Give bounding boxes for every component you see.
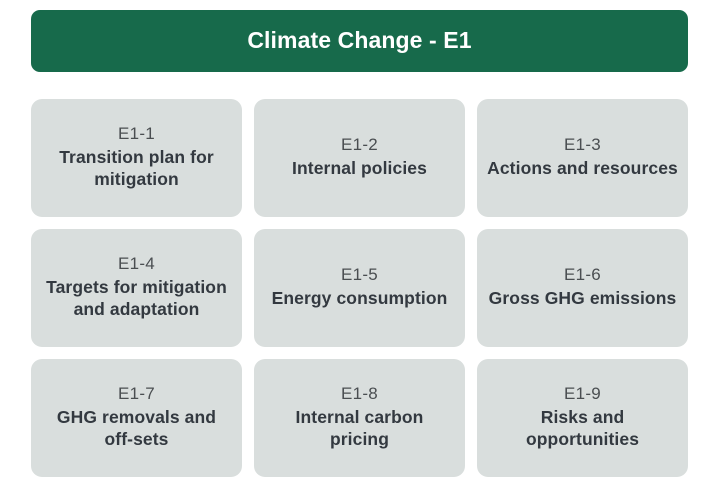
card-e1-6[interactable]: E1-6 Gross GHG emissions bbox=[477, 229, 688, 347]
page-title: Climate Change - E1 bbox=[247, 28, 471, 53]
card-code: E1-8 bbox=[341, 383, 378, 405]
card-code: E1-6 bbox=[564, 264, 601, 286]
card-label: Transition plan for mitigation bbox=[41, 146, 232, 191]
card-label: Internal carbon pricing bbox=[264, 406, 455, 451]
card-label: Gross GHG emissions bbox=[489, 287, 677, 309]
card-label: Risks and opportunities bbox=[487, 406, 678, 451]
card-e1-2[interactable]: E1-2 Internal policies bbox=[254, 99, 465, 217]
card-code: E1-1 bbox=[118, 123, 155, 145]
card-e1-9[interactable]: E1-9 Risks and opportunities bbox=[477, 359, 688, 477]
card-code: E1-9 bbox=[564, 383, 601, 405]
card-code: E1-4 bbox=[118, 253, 155, 275]
card-label: Targets for mitigation and adaptation bbox=[41, 276, 232, 321]
header-banner: Climate Change - E1 bbox=[31, 10, 688, 72]
card-e1-3[interactable]: E1-3 Actions and resources bbox=[477, 99, 688, 217]
card-label: GHG removals and off-sets bbox=[41, 406, 232, 451]
card-code: E1-3 bbox=[564, 134, 601, 156]
card-e1-4[interactable]: E1-4 Targets for mitigation and adaptati… bbox=[31, 229, 242, 347]
card-label: Energy consumption bbox=[272, 287, 448, 309]
card-e1-1[interactable]: E1-1 Transition plan for mitigation bbox=[31, 99, 242, 217]
card-e1-8[interactable]: E1-8 Internal carbon pricing bbox=[254, 359, 465, 477]
card-label: Actions and resources bbox=[487, 157, 678, 179]
card-label: Internal policies bbox=[292, 157, 427, 179]
card-e1-7[interactable]: E1-7 GHG removals and off-sets bbox=[31, 359, 242, 477]
disclosure-card-grid: E1-1 Transition plan for mitigation E1-2… bbox=[31, 99, 688, 477]
climate-change-e1-diagram: Climate Change - E1 E1-1 Transition plan… bbox=[0, 0, 718, 488]
card-code: E1-2 bbox=[341, 134, 378, 156]
card-e1-5[interactable]: E1-5 Energy consumption bbox=[254, 229, 465, 347]
card-code: E1-5 bbox=[341, 264, 378, 286]
card-code: E1-7 bbox=[118, 383, 155, 405]
